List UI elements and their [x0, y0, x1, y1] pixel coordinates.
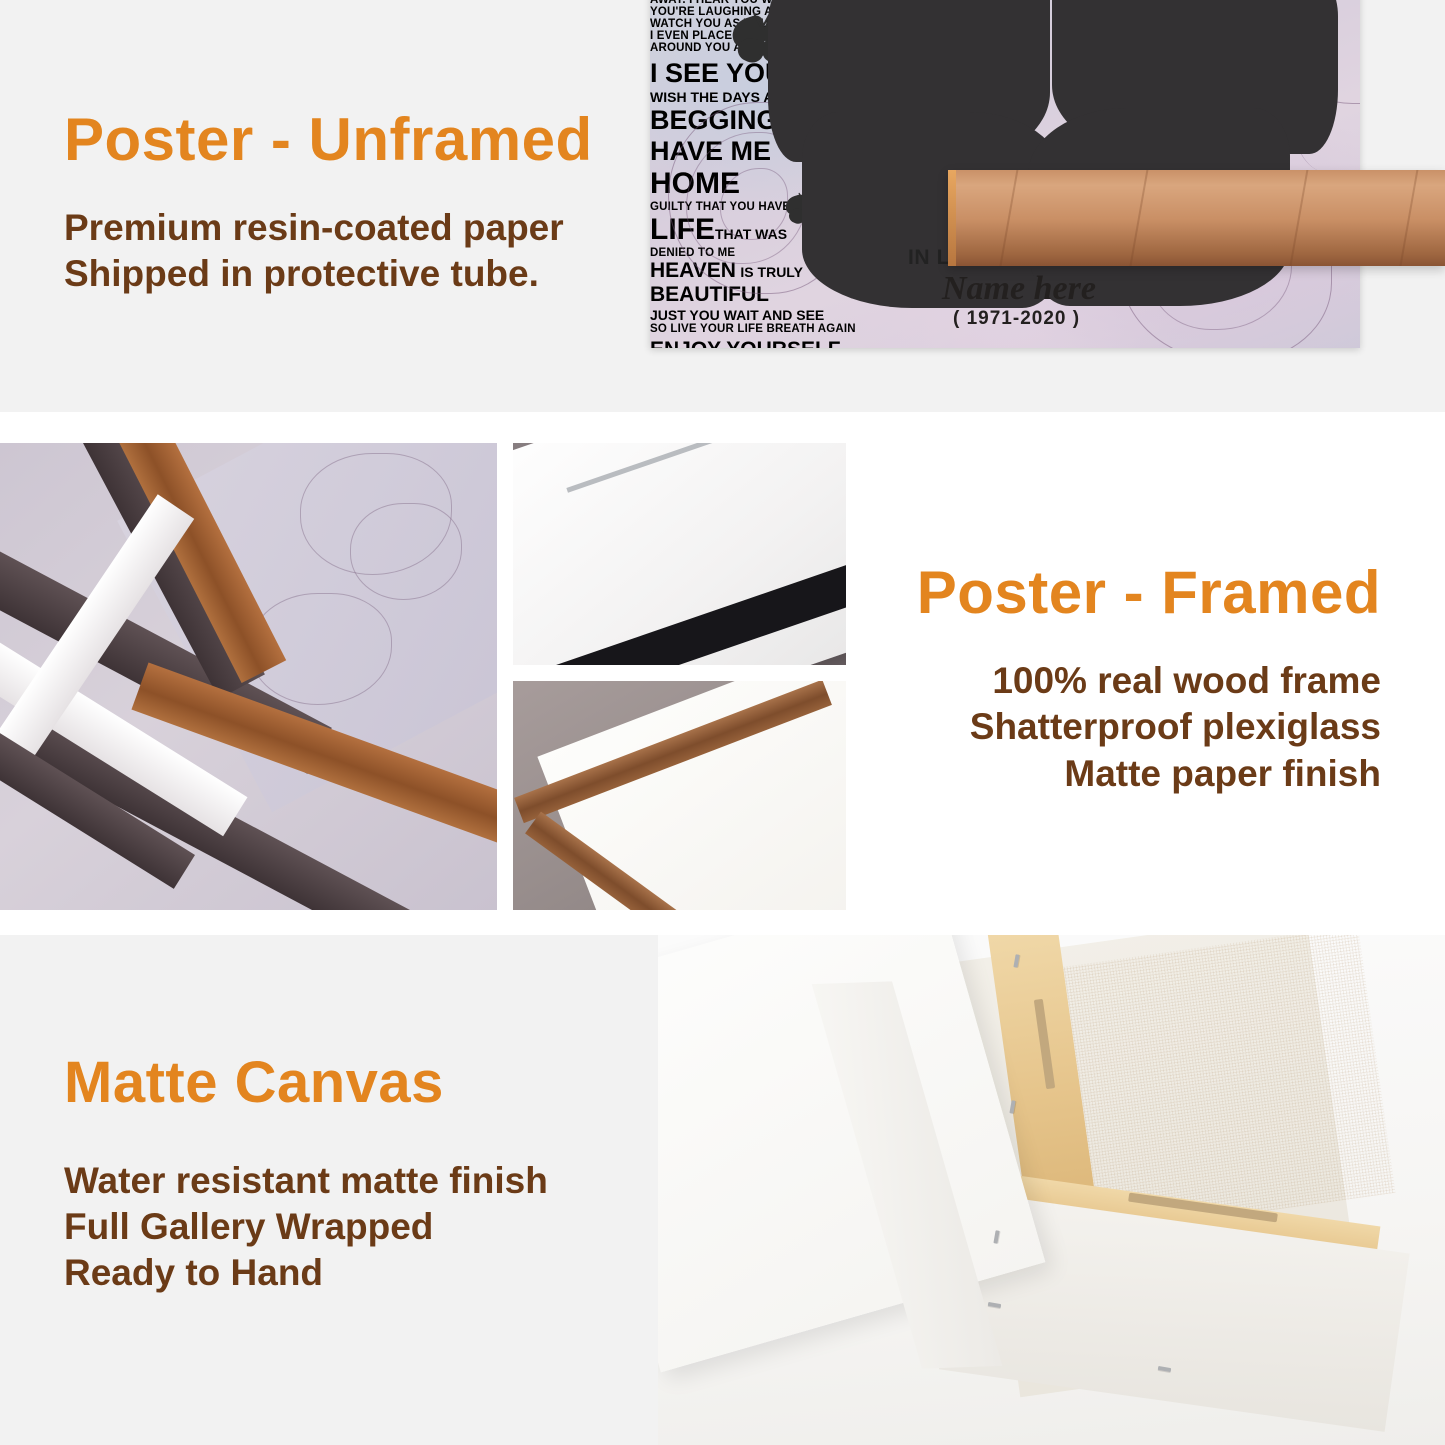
- feature-line: Full Gallery Wrapped: [64, 1204, 664, 1250]
- section-title: Poster - Unframed: [64, 108, 664, 171]
- feature-line: 100% real wood frame: [851, 658, 1381, 704]
- product-infographic: WITH SIGNS. I NEVER WENT AWAY. I HEAR YO…: [0, 0, 1445, 1445]
- feature-line: Matte paper finish: [851, 751, 1381, 797]
- feature-line: Premium resin-coated paper: [64, 205, 664, 251]
- feature-line: Shipped in protective tube.: [64, 251, 664, 297]
- poster-years: ( 1971-2020 ): [953, 308, 1080, 330]
- feature-list: Premium resin-coated paper Shipped in pr…: [64, 205, 664, 298]
- feature-line: Ready to Hand: [64, 1250, 664, 1296]
- poster-unframed-text: Poster - Unframed Premium resin-coated p…: [64, 108, 664, 298]
- section-poster-unframed: WITH SIGNS. I NEVER WENT AWAY. I HEAR YO…: [0, 0, 1445, 412]
- feature-line: Water resistant matte finish: [64, 1158, 664, 1204]
- section-matte-canvas: Matte Canvas Water resistant matte finis…: [0, 935, 1445, 1445]
- poster-name-placeholder: Name here: [942, 270, 1096, 308]
- poster-framed-text: Poster - Framed 100% real wood frame Sha…: [851, 561, 1381, 797]
- feature-list: 100% real wood frame Shatterproof plexig…: [851, 658, 1381, 797]
- section-title: Poster - Framed: [851, 561, 1381, 624]
- section-poster-framed: Poster - Framed 100% real wood frame Sha…: [0, 443, 1445, 910]
- canvas-detail-photo: [658, 935, 1445, 1445]
- wood-frame-photo: [513, 681, 846, 910]
- matte-canvas-text: Matte Canvas Water resistant matte finis…: [64, 1053, 664, 1297]
- frame-corners-photo: [0, 443, 497, 910]
- shipping-tube-image: [948, 170, 1445, 266]
- black-frame-photo: [513, 443, 846, 665]
- feature-line: Shatterproof plexiglass: [851, 704, 1381, 750]
- feature-list: Water resistant matte finish Full Galler…: [64, 1158, 664, 1297]
- section-title: Matte Canvas: [64, 1053, 664, 1114]
- tube-end-cap: [948, 170, 956, 266]
